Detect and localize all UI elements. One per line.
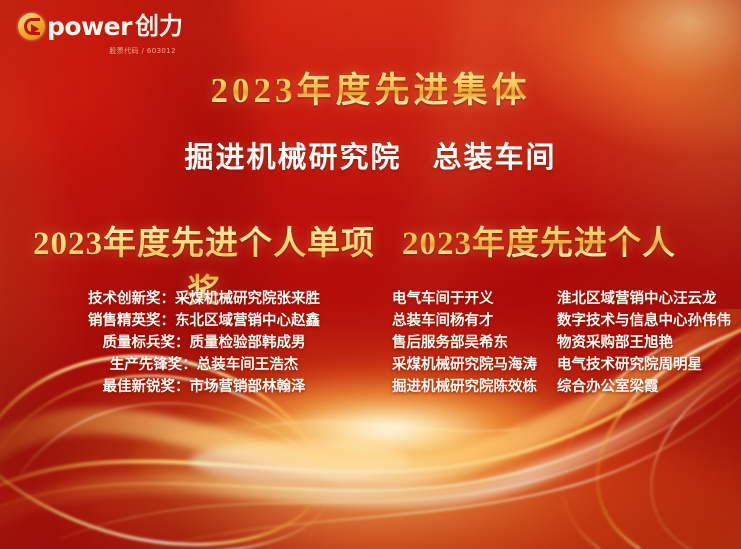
list-item-col1: 电气车间于开义 [386, 288, 557, 310]
list-item: 采煤机械研究院马海涛 电气技术研究院周明星 [386, 354, 731, 376]
individual-award-list: 电气车间于开义 淮北区域营销中心汪云龙 总装车间杨有才 数字技术与信息中心孙伟伟… [386, 288, 731, 398]
list-item-col2: 淮北区域营销中心汪云龙 [557, 288, 731, 310]
list-item: 掘进机械研究院陈效栋 综合办公室梁霞 [386, 376, 731, 398]
company-logo: power 创力 股票代码 / 603012 [18, 11, 248, 59]
list-item-col1: 采煤机械研究院马海涛 [386, 354, 557, 376]
list-item: 售后服务部吴希东 物资采购部王旭艳 [386, 332, 731, 354]
list-item: 技术创新奖：采煤机械研究院张来胜 [18, 288, 390, 310]
list-item-col2: 综合办公室梁霞 [557, 376, 731, 398]
list-item: 电气车间于开义 淮北区域营销中心汪云龙 [386, 288, 731, 310]
list-item-col2: 物资采购部王旭艳 [557, 332, 731, 354]
list-item: 最佳新锐奖：市场营销部林翰泽 [18, 376, 390, 398]
list-item: 生产先锋奖：总装车间王浩杰 [18, 354, 390, 376]
page-title: 2023年度先进集体 [0, 62, 741, 113]
list-item-col1: 总装车间杨有才 [386, 310, 557, 332]
list-item-col2: 电气技术研究院周明星 [557, 354, 731, 376]
list-item-col2: 数字技术与信息中心孙伟伟 [557, 310, 731, 332]
award-poster: power 创力 股票代码 / 603012 2023年度先进集体 掘进机械研究… [0, 0, 741, 549]
power-c-arrow-icon [18, 13, 45, 40]
stock-code-label: 股票代码 / 603012 [18, 46, 176, 56]
list-item: 总装车间杨有才 数字技术与信息中心孙伟伟 [386, 310, 731, 332]
list-item: 质量标兵奖：质量检验部韩成男 [18, 332, 390, 354]
collective-winners: 掘进机械研究院 总装车间 [0, 134, 741, 176]
list-item: 销售精英奖：东北区域营销中心赵鑫 [18, 310, 390, 332]
list-item-col1: 售后服务部吴希东 [386, 332, 557, 354]
logo-wordmark: power [47, 14, 132, 39]
list-item-col1: 掘进机械研究院陈效栋 [386, 376, 557, 398]
logo-row: power 创力 [18, 11, 248, 41]
special-award-list: 技术创新奖：采煤机械研究院张来胜 销售精英奖：东北区域营销中心赵鑫 质量标兵奖：… [18, 288, 390, 398]
section-heading-individual: 2023年度先进个人 [398, 216, 680, 264]
logo-wordmark-cn: 创力 [135, 14, 183, 38]
